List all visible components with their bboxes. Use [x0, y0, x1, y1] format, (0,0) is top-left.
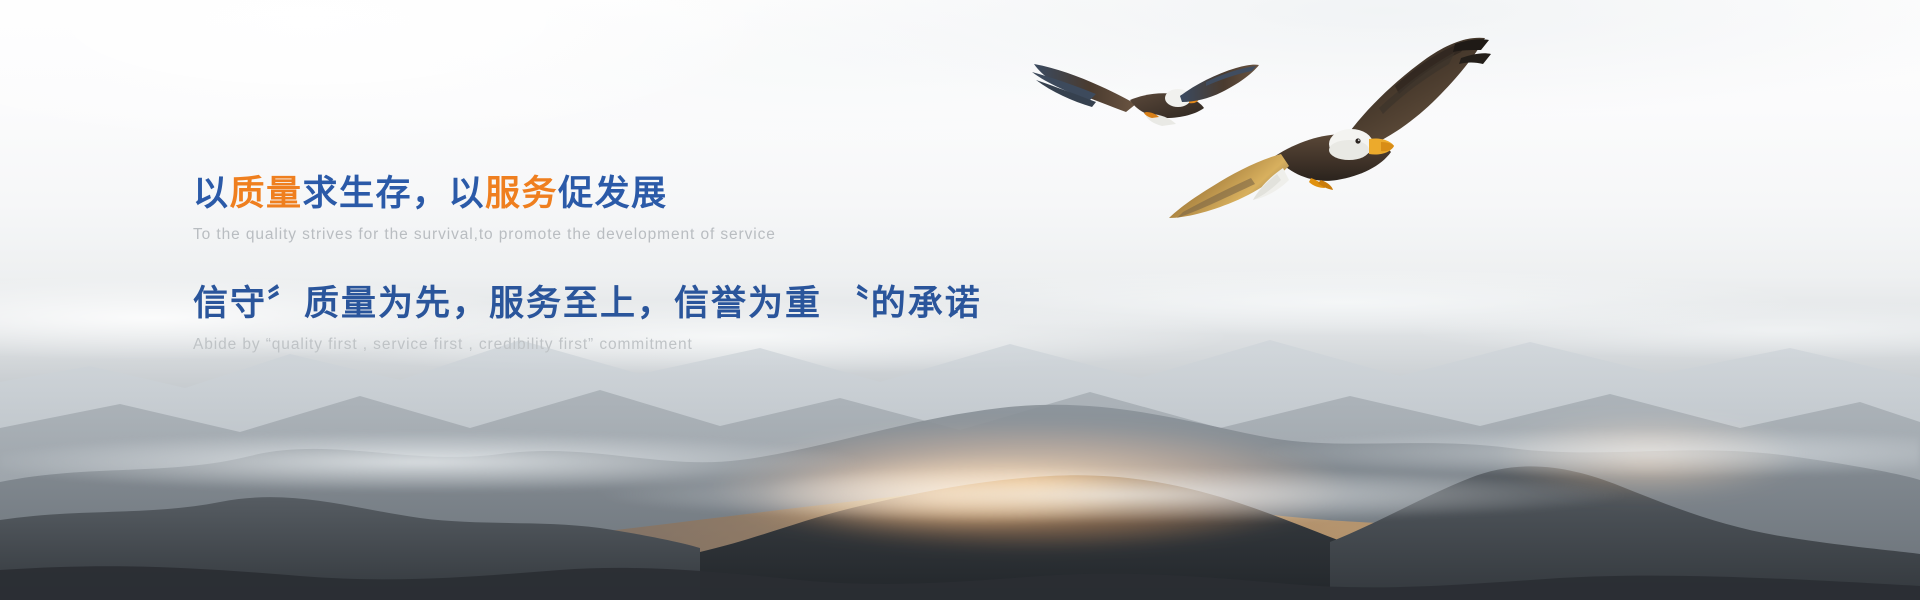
- subtitle-primary: To the quality strives for the survival,…: [193, 223, 1173, 246]
- slogan-block-primary: 以质量求生存，以服务促发展 To the quality strives for…: [193, 172, 1173, 246]
- subtitle-secondary: Abide by “quality first , service first …: [193, 333, 1173, 356]
- bald-eagle-icon: [1155, 38, 1495, 253]
- headline-segment: 以: [193, 174, 230, 213]
- slogan-block-secondary: 信守〞质量为先，服务至上，信誉为重 〝的承诺 Abide by “quality…: [193, 282, 1173, 356]
- headline-segment: 促发展: [558, 174, 668, 213]
- headline-segment: 求生存，以: [303, 174, 486, 213]
- hero-banner: 以质量求生存，以服务促发展 To the quality strives for…: [0, 0, 1920, 600]
- banner-copy: 以质量求生存，以服务促发展 To the quality strives for…: [193, 172, 1173, 356]
- headline-primary: 以质量求生存，以服务促发展: [193, 172, 1173, 217]
- headline-secondary: 信守〞质量为先，服务至上，信誉为重 〝的承诺: [193, 282, 1173, 327]
- headline-segment-accent: 服务: [485, 174, 558, 213]
- headline-segment-accent: 质量: [230, 174, 303, 213]
